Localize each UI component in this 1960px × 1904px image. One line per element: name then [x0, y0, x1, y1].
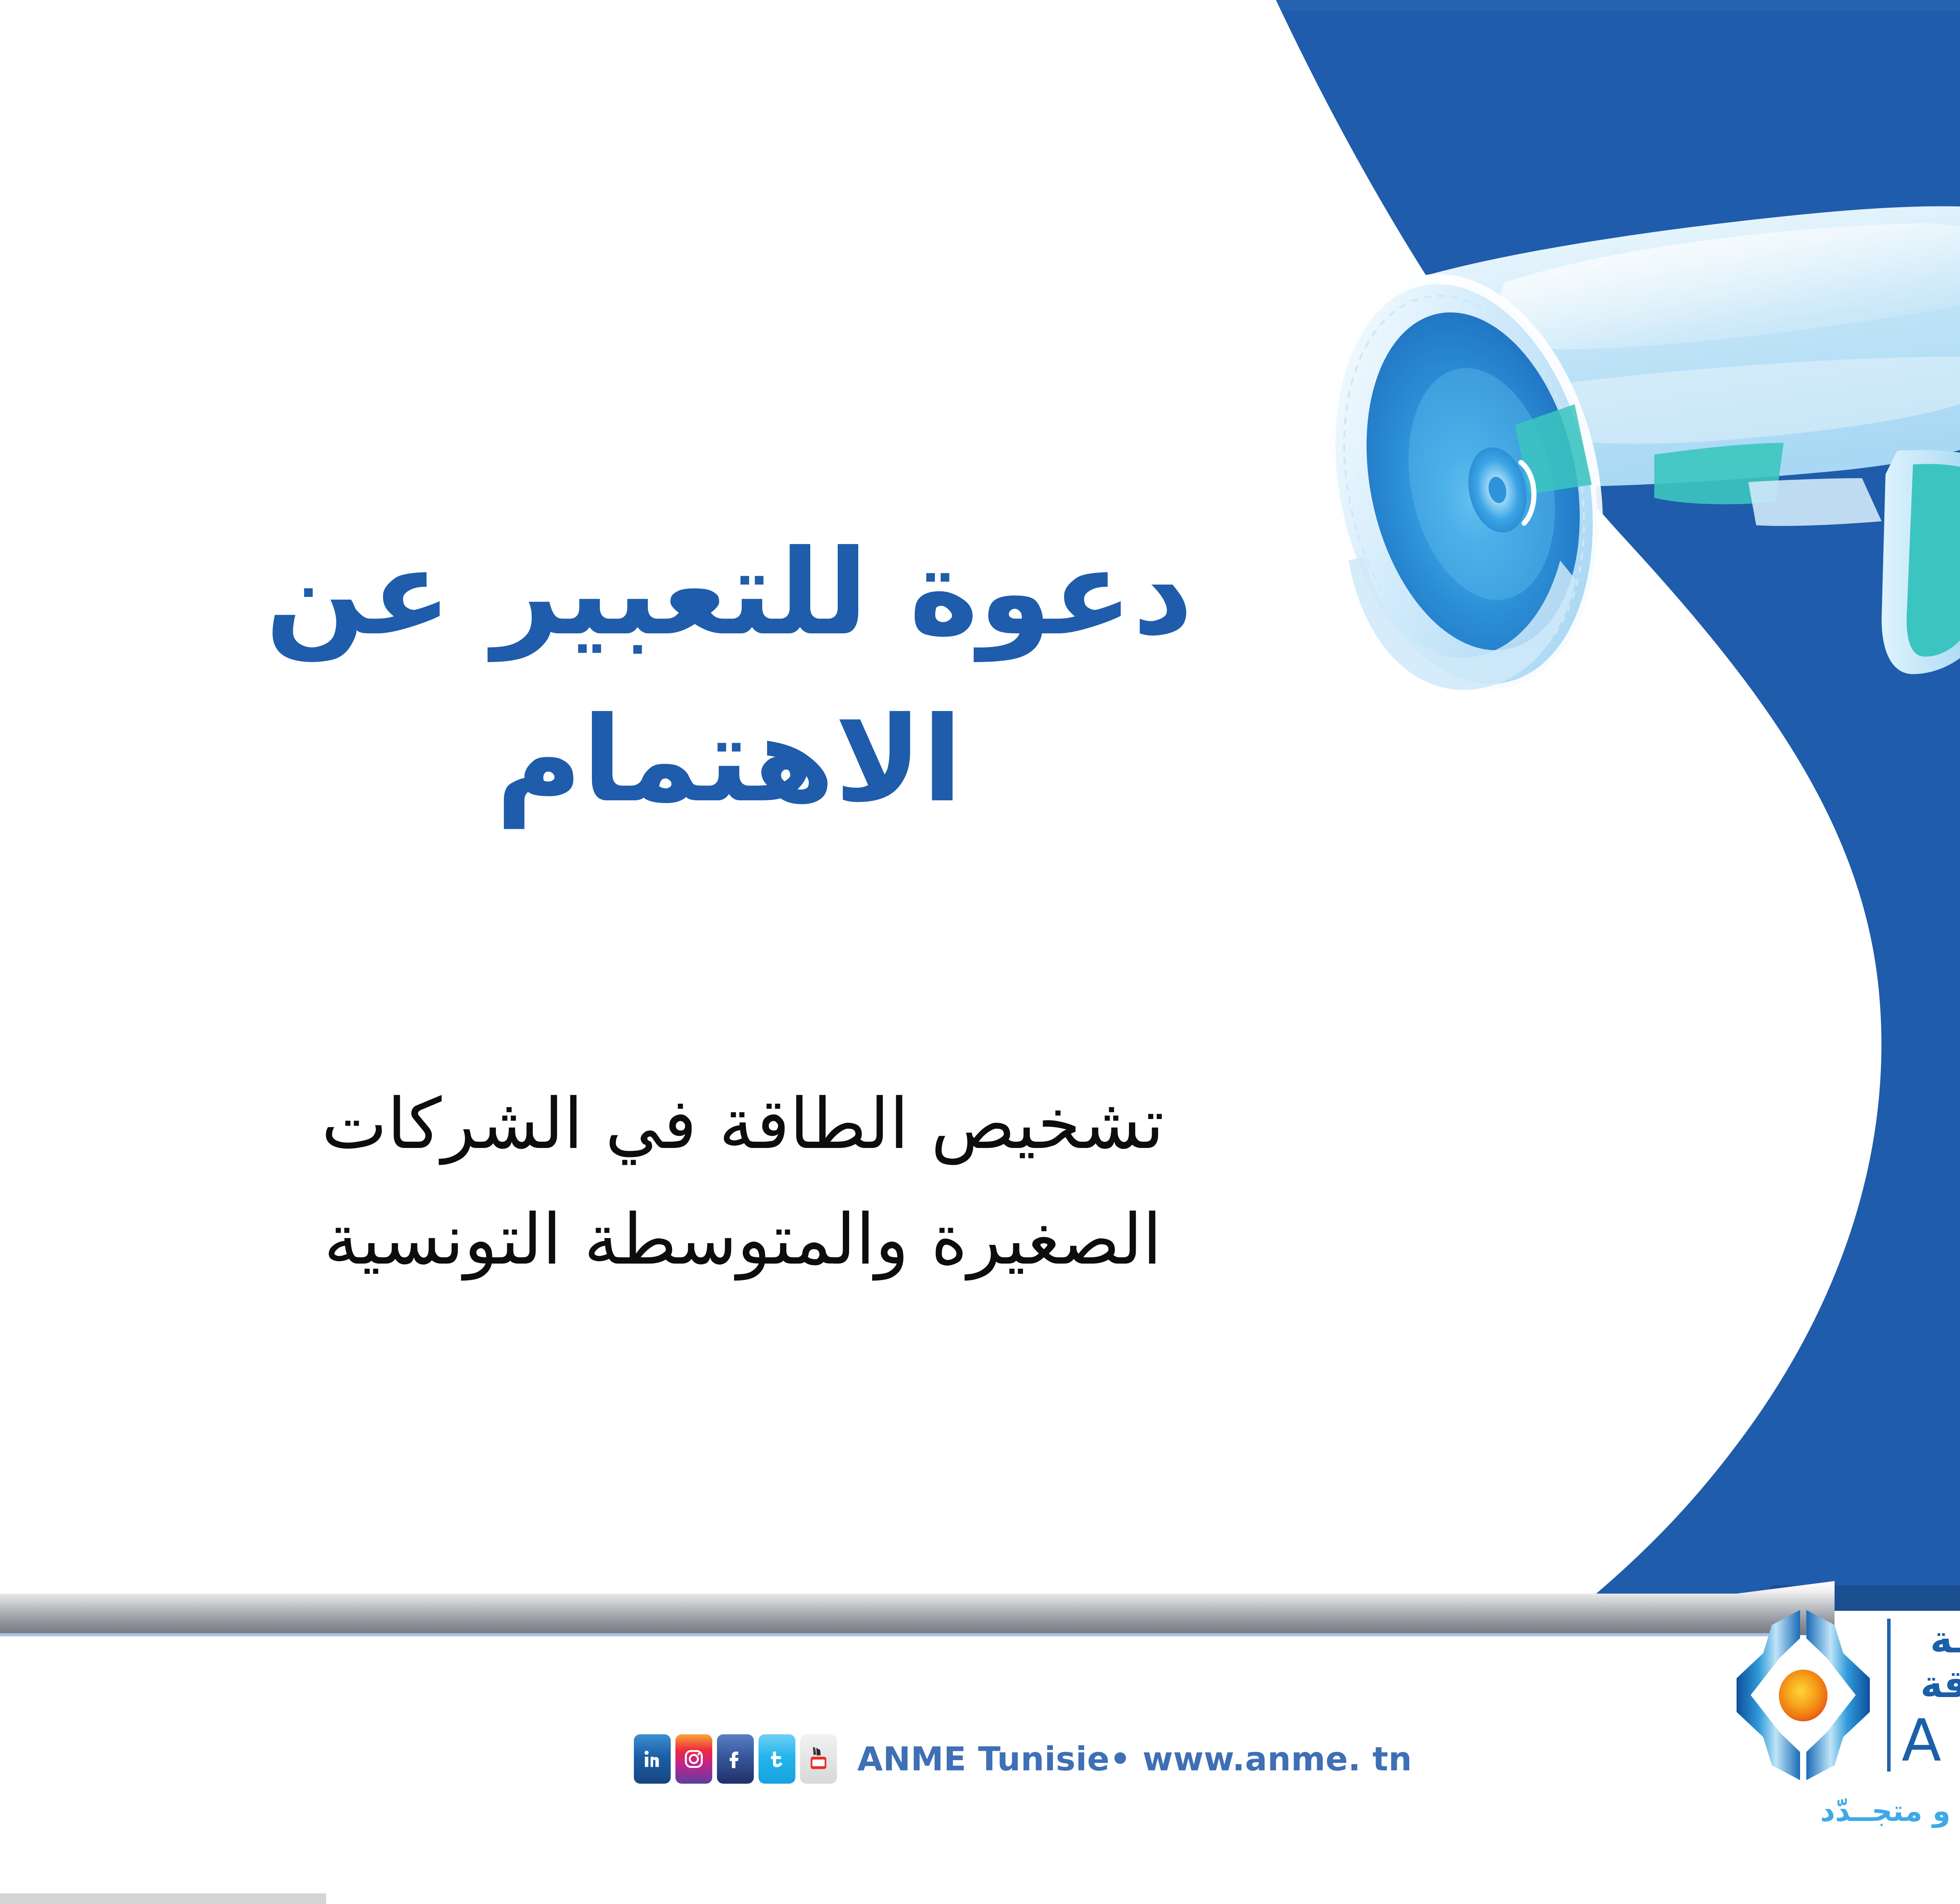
subtitle-block: تشخيص الطاقة في الشركات الصغيرة والمتوسط…	[169, 1066, 1317, 1298]
anme-logo-mark-icon	[1733, 1603, 1874, 1787]
subtitle-line-2: الصغيرة والمتوسطة التونسية	[169, 1182, 1317, 1297]
megaphone-illustration	[1286, 98, 1960, 874]
subtitle-line-1: تشخيص الطاقة في الشركات	[169, 1066, 1317, 1182]
headline-line-1: دعوة للتعبير عن	[149, 510, 1309, 676]
logo-acronym: ANME	[1902, 1709, 1960, 1773]
anme-logo-block: الوكالــة الوطنيــة للتحكم في الطاقة ANM…	[1733, 1603, 1960, 1854]
instagram-icon[interactable]	[675, 1734, 712, 1784]
facebook-icon[interactable]	[717, 1734, 754, 1784]
logo-text-group: الوكالــة الوطنيــة للتحكم في الطاقة ANM…	[1902, 1617, 1960, 1772]
grey-divider-band	[0, 1579, 1850, 1658]
social-handle-label: ANME Tunisie• www.anme. tn	[857, 1740, 1412, 1778]
poster-canvas: دعوة للتعبير عن الاهتمام تشخيص الطاقة في…	[0, 0, 1960, 1904]
linkedin-icon[interactable]	[634, 1734, 671, 1784]
thin-blue-rule	[0, 1633, 1780, 1636]
bottom-grey-strip	[0, 1893, 326, 1904]
background-blue-shape	[0, 0, 1960, 1904]
logo-tagline: التــزام دائــم و متجــدّد	[1733, 1794, 1960, 1828]
headline-block: دعوة للتعبير عن الاهتمام	[149, 510, 1309, 843]
youtube-icon[interactable]	[800, 1734, 837, 1784]
logo-arabic-line-1: الوكالــة الوطنيــة	[1902, 1617, 1960, 1662]
logo-divider	[1887, 1619, 1891, 1772]
twitter-icon[interactable]	[759, 1734, 795, 1784]
logo-arabic-line-2: للتحكم في الطاقة	[1902, 1662, 1960, 1706]
headline-line-2: الاهتمام	[149, 676, 1309, 843]
social-links-row: ANME Tunisie• www.anme. tn	[634, 1734, 1412, 1784]
